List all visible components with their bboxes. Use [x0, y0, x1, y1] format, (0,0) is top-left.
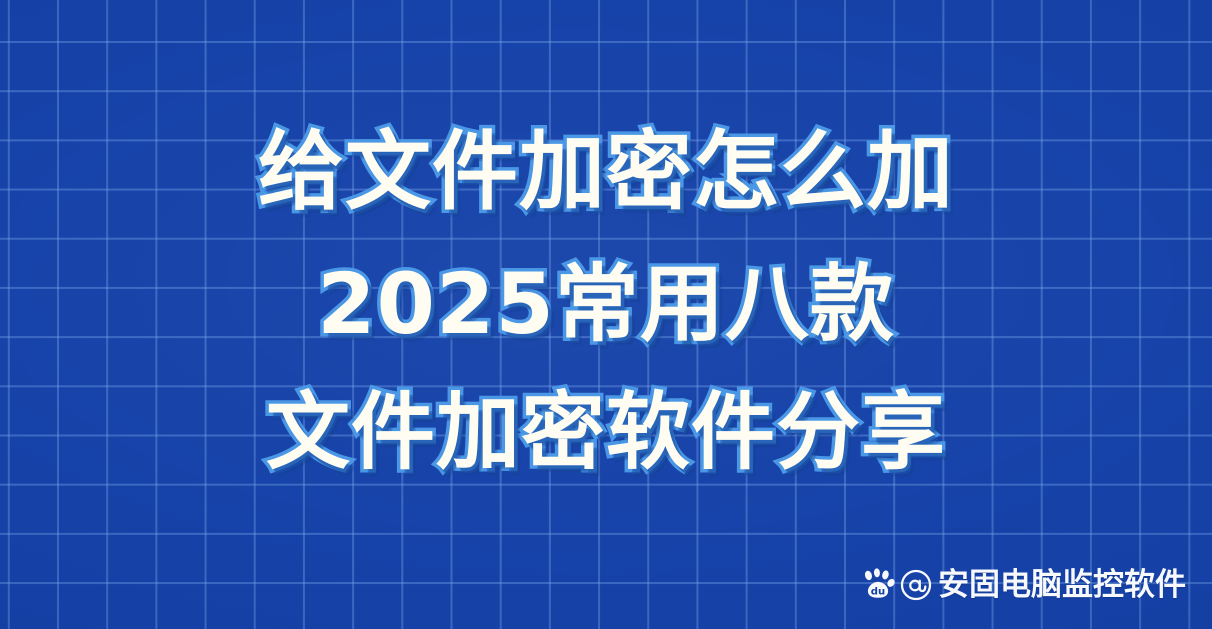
headline-line-1: 给文件加密怎么加 — [258, 128, 954, 217]
headline-block: 给文件加密怎么加 2025常用八款 文件加密软件分享 — [0, 128, 1212, 476]
headline-line-2: 2025常用八款 — [317, 261, 895, 348]
svg-text:du: du — [871, 587, 885, 598]
poster-canvas: 给文件加密怎么加 2025常用八款 文件加密软件分享 du 安固电脑监控软件 — [0, 0, 1212, 629]
headline-line-3: 文件加密软件分享 — [266, 389, 946, 476]
watermark: du 安固电脑监控软件 — [861, 568, 1186, 602]
baidu-paw-icon: du — [861, 568, 895, 602]
watermark-handle: 安固电脑监控软件 — [938, 570, 1186, 601]
at-sign-icon — [900, 569, 932, 601]
